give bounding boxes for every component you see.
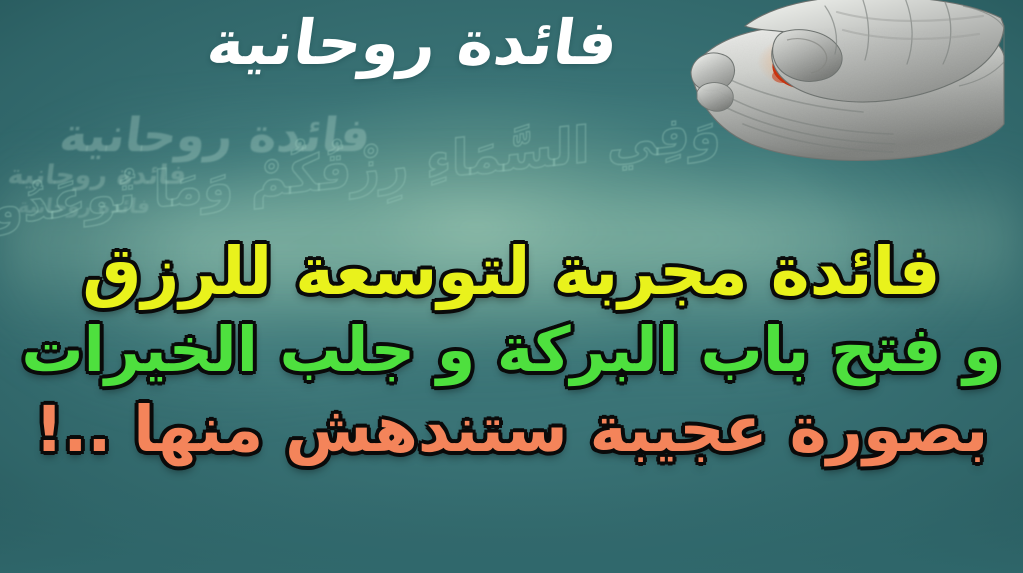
message-line-3: بصورة عجيبة ستندهش منها ..! (0, 396, 1023, 464)
message-block: فائدة مجربة لتوسعة للرزق و فتح باب البرك… (0, 236, 1023, 464)
cupped-hands-holding-embers-image (687, 0, 1005, 168)
page-title: فائدة روحانية (203, 6, 623, 79)
message-line-1: فائدة مجربة لتوسعة للرزق (0, 236, 1023, 307)
background-bottom-fade (0, 483, 1023, 573)
message-line-2: و فتح باب البركة و جلب الخيرات (0, 317, 1023, 384)
poster-canvas: فائدة روحانية فائدة روحانية فائدة روحاني… (0, 0, 1023, 573)
